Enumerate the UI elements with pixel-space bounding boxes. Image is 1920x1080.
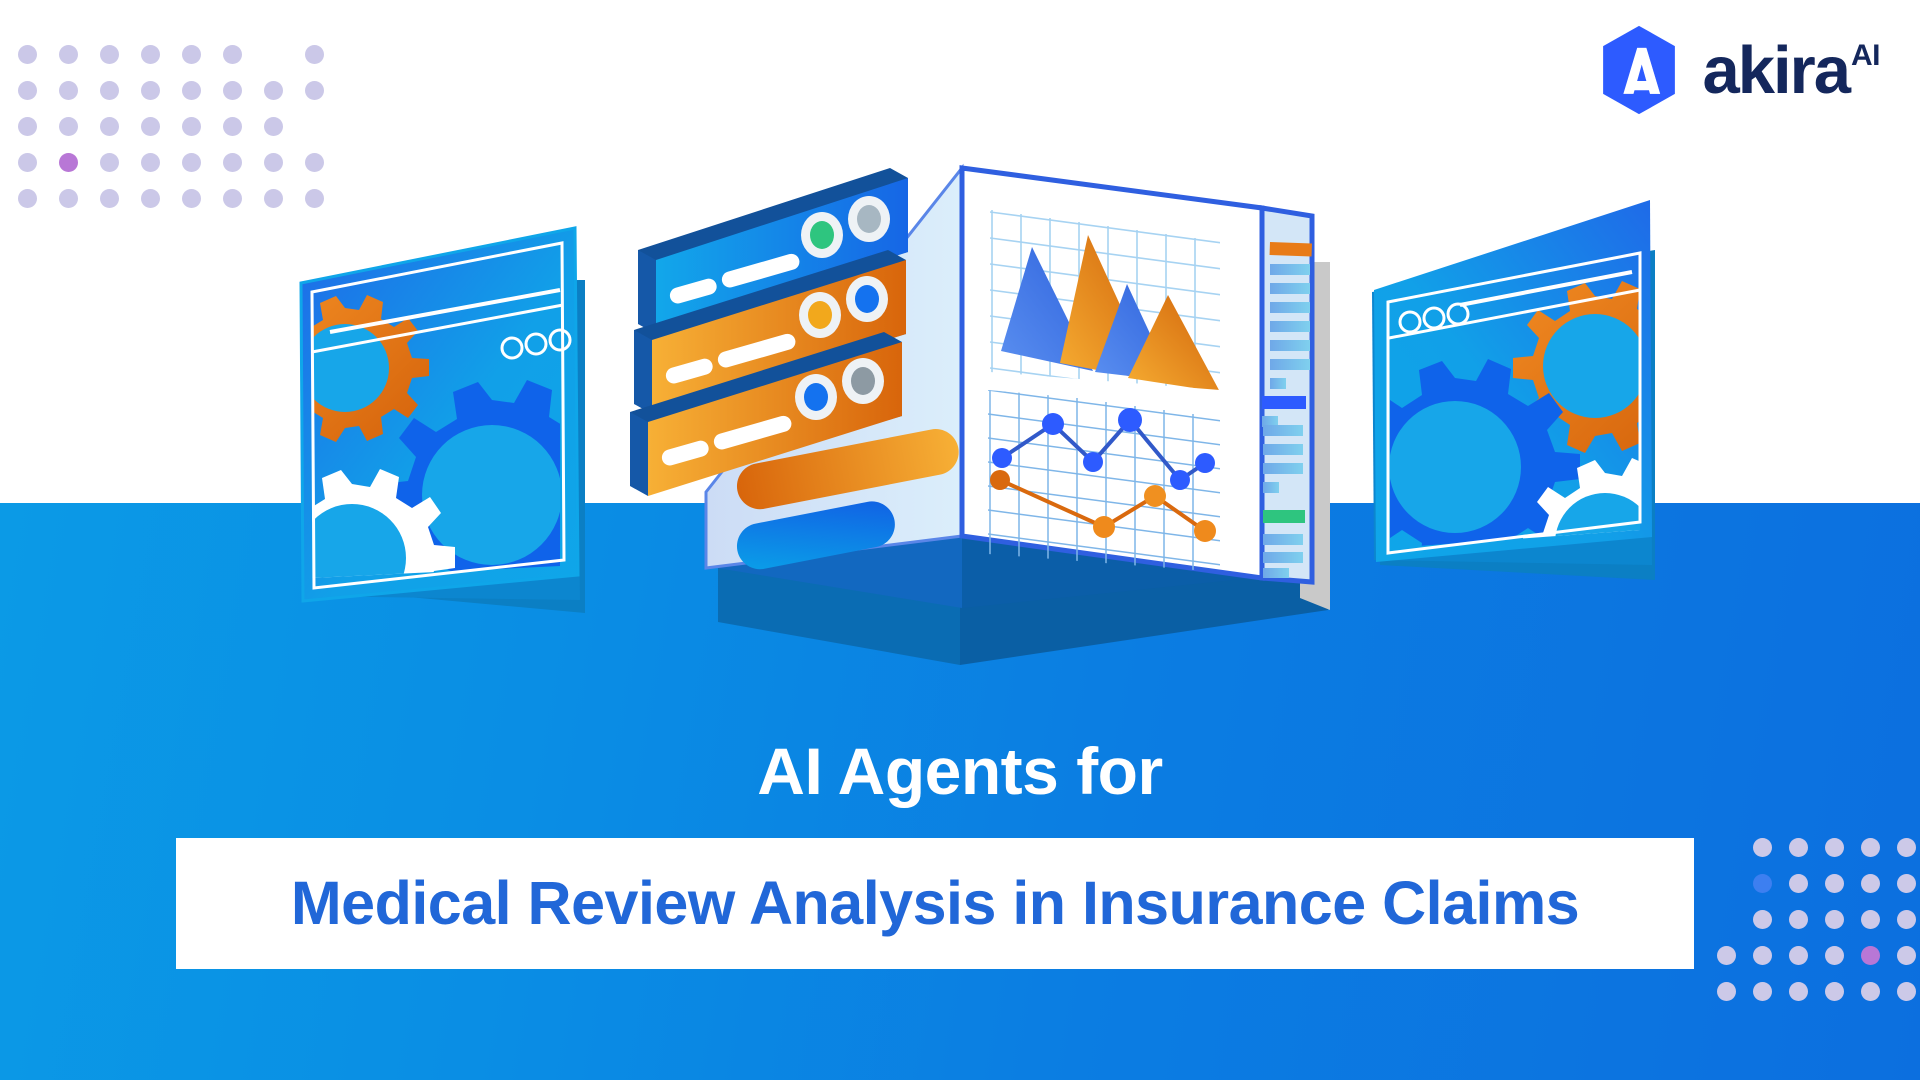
title-banner: Medical Review Analysis in Insurance Cla… <box>176 838 1694 969</box>
headline-line-1: AI Agents for <box>0 738 1920 804</box>
decorative-dot <box>223 45 242 64</box>
decorative-dot <box>141 117 160 136</box>
decorative-dot <box>182 117 201 136</box>
decorative-dot <box>1789 874 1808 893</box>
decorative-dot <box>1897 838 1916 857</box>
decorative-dot <box>1789 946 1808 965</box>
decorative-dot <box>141 45 160 64</box>
decorative-dot <box>223 153 242 172</box>
brand-wordmark: akira AI <box>1703 37 1880 104</box>
decorative-dot <box>59 189 78 208</box>
decorative-dot <box>1717 838 1736 857</box>
decorative-dot <box>100 45 119 64</box>
decorative-dot <box>18 45 37 64</box>
decorative-dot <box>59 45 78 64</box>
decorative-dot <box>223 189 242 208</box>
decorative-dot <box>1825 946 1844 965</box>
decorative-dot <box>1717 982 1736 1001</box>
decorative-dot <box>264 81 283 100</box>
decorative-dot <box>100 153 119 172</box>
decorative-dot <box>141 81 160 100</box>
decorative-dot <box>264 189 283 208</box>
decorative-dot <box>100 117 119 136</box>
decorative-dot-grid-top-left <box>18 45 346 225</box>
decorative-dot <box>1789 982 1808 1001</box>
decorative-dot <box>1861 874 1880 893</box>
decorative-dot <box>18 117 37 136</box>
decorative-dot <box>264 117 283 136</box>
decorative-dot <box>305 189 324 208</box>
decorative-dot <box>1861 946 1880 965</box>
decorative-dot <box>305 45 324 64</box>
decorative-dot <box>264 45 283 64</box>
decorative-dot <box>305 81 324 100</box>
decorative-dot <box>1717 874 1736 893</box>
decorative-dot <box>1753 982 1772 1001</box>
decorative-dot <box>1789 838 1808 857</box>
brand-logo[interactable]: akira AI <box>1593 24 1880 116</box>
decorative-dot <box>223 81 242 100</box>
headline-line-2: Medical Review Analysis in Insurance Cla… <box>291 873 1579 934</box>
brand-name: akira <box>1703 37 1849 104</box>
decorative-dot <box>18 153 37 172</box>
decorative-dot <box>1753 910 1772 929</box>
decorative-dot <box>264 153 283 172</box>
decorative-dot <box>141 189 160 208</box>
decorative-dot <box>1825 838 1844 857</box>
decorative-dot <box>1825 982 1844 1001</box>
decorative-dot <box>305 153 324 172</box>
decorative-dot <box>182 81 201 100</box>
decorative-dot-grid-bottom-right <box>1717 838 1920 1018</box>
decorative-dot <box>1753 838 1772 857</box>
decorative-dot <box>223 117 242 136</box>
decorative-dot <box>100 81 119 100</box>
decorative-dot <box>1753 874 1772 893</box>
decorative-dot <box>1897 982 1916 1001</box>
decorative-dot <box>1717 910 1736 929</box>
decorative-dot <box>18 81 37 100</box>
decorative-dot <box>182 153 201 172</box>
akira-hexagon-icon <box>1593 24 1685 116</box>
decorative-dot <box>182 45 201 64</box>
decorative-dot <box>182 189 201 208</box>
poster-canvas: akira AI <box>0 0 1920 1080</box>
decorative-dot <box>59 117 78 136</box>
decorative-dot <box>1825 874 1844 893</box>
decorative-dot <box>1861 910 1880 929</box>
decorative-dot <box>1753 946 1772 965</box>
decorative-dot <box>100 189 119 208</box>
decorative-dot <box>59 81 78 100</box>
decorative-dot <box>18 189 37 208</box>
decorative-dot <box>1825 910 1844 929</box>
decorative-dot <box>1861 838 1880 857</box>
decorative-dot <box>1789 910 1808 929</box>
decorative-dot <box>1717 946 1736 965</box>
decorative-dot <box>1861 982 1880 1001</box>
decorative-dot <box>59 153 78 172</box>
decorative-dot <box>305 117 324 136</box>
brand-superscript: AI <box>1851 41 1880 71</box>
decorative-dot <box>1897 874 1916 893</box>
decorative-dot <box>1897 946 1916 965</box>
decorative-dot <box>141 153 160 172</box>
decorative-dot <box>1897 910 1916 929</box>
